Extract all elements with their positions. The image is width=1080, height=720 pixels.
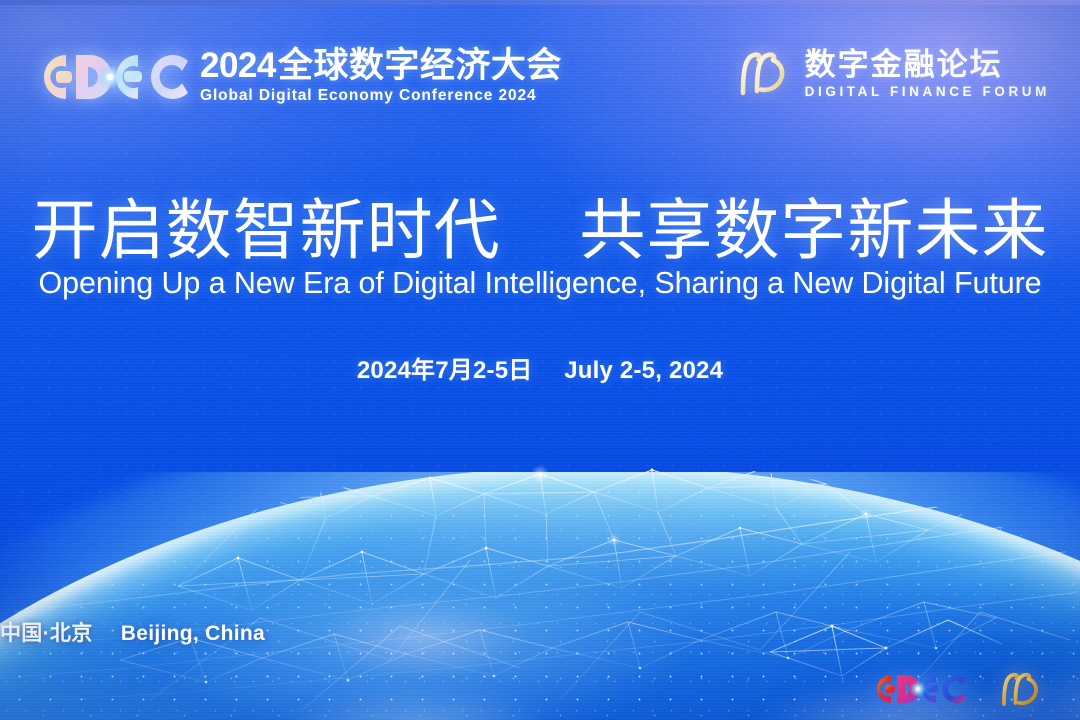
forum-logo-block: 数字金融论坛 DIGITAL FINANCE FORUM — [735, 46, 1050, 100]
location-line: 中国·北京 Beijing, China — [0, 617, 1080, 647]
forum-title-en: DIGITAL FINANCE FORUM — [805, 84, 1050, 99]
conference-backdrop: 2024全球数字经济大会 Global Digital Economy Conf… — [0, 0, 1080, 720]
headline-en: Opening Up a New Era of Digital Intellig… — [0, 266, 1080, 301]
conference-title-block: 2024全球数字经济大会 Global Digital Economy Conf… — [200, 46, 562, 105]
location-cn: 中国·北京 — [0, 622, 93, 645]
conference-title-cn: 2024全球数字经济大会 — [200, 46, 562, 86]
ff-monogram-icon — [735, 46, 791, 100]
headline-cn-part2: 共享数字新未来 — [579, 193, 1048, 267]
headline-cn: 开启数智新时代 共享数字新未来 — [0, 192, 1080, 268]
conference-title-en: Global Digital Economy Conference 2024 — [200, 87, 562, 105]
gdec-wordmark-icon — [32, 47, 198, 107]
forum-title-cn: 数字金融论坛 — [805, 47, 1050, 82]
conference-year: 2024 — [200, 46, 276, 85]
date-cn: 2024年7月2-5日 — [357, 357, 533, 384]
date-en: July 2-5, 2024 — [564, 357, 723, 384]
footer-logo-group — [870, 668, 1044, 710]
ff-monogram-gold-icon — [998, 668, 1044, 710]
location-en: Beijing, China — [121, 622, 265, 645]
headline-cn-part1: 开启数智新时代 — [32, 193, 501, 267]
header: 2024全球数字经济大会 Global Digital Economy Conf… — [0, 0, 1080, 142]
gdec-wordmark-color-icon — [870, 670, 972, 708]
date-line: 2024年7月2-5日 July 2-5, 2024 — [0, 350, 1080, 385]
